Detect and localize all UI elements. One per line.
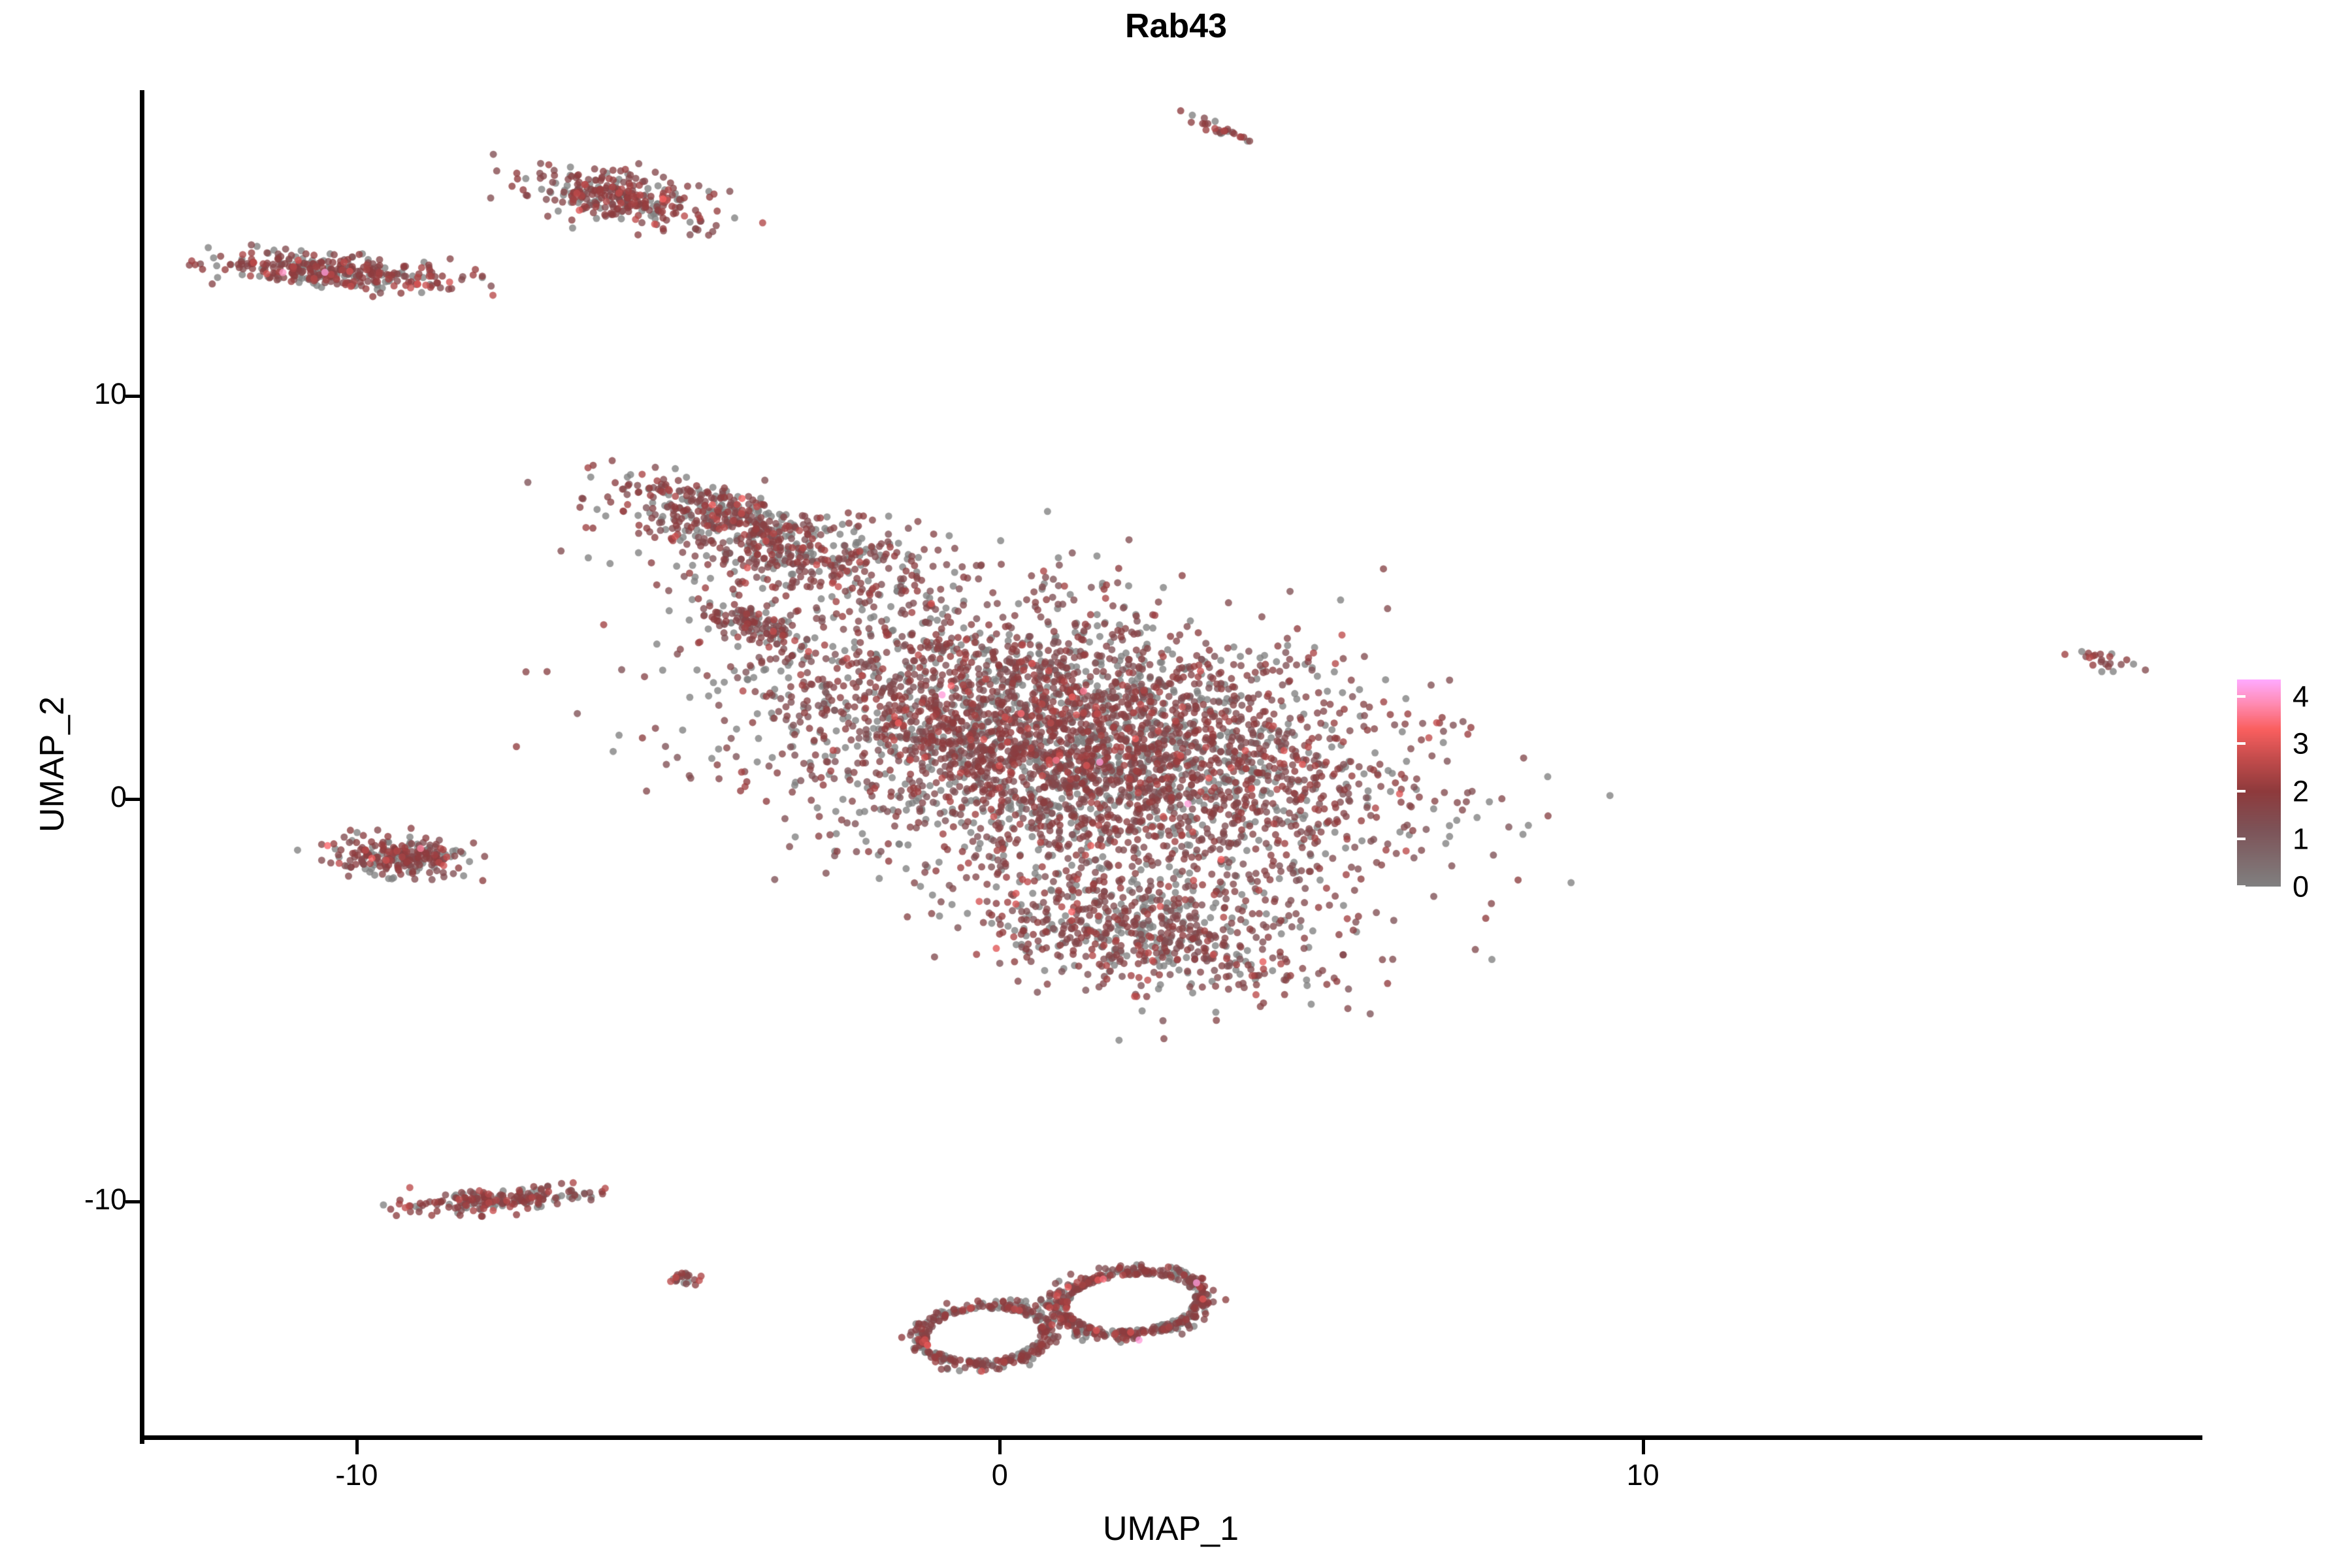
scatter-plot-canvas — [144, 90, 2202, 1439]
legend-tick-label: 0 — [2293, 872, 2309, 902]
legend-tick-mark — [2237, 742, 2246, 745]
y-tick-mark — [125, 395, 140, 398]
y-tick-mark — [125, 1200, 140, 1203]
legend-tick-label: 4 — [2293, 681, 2309, 711]
legend-tick-mark — [2333, 742, 2342, 745]
legend-tick-mark — [2237, 838, 2246, 840]
x-tick-mark — [1642, 1440, 1645, 1454]
y-tick-mark — [125, 798, 140, 801]
x-tick-label: -10 — [335, 1460, 378, 1490]
legend-tick-mark — [2333, 695, 2342, 698]
color-legend[interactable]: 01234 — [2237, 679, 2342, 902]
y-axis-title: UMAP_2 — [33, 372, 72, 1156]
x-axis-title-text: UMAP_1 — [1103, 1509, 1239, 1548]
y-tick-label: 0 — [110, 782, 127, 811]
legend-tick-label: 2 — [2293, 777, 2309, 806]
x-tick-label: 0 — [992, 1460, 1008, 1490]
legend-gradient-swatch — [2237, 679, 2281, 887]
y-axis-line — [140, 90, 144, 1444]
legend-tick-label: 3 — [2293, 729, 2309, 759]
legend-tick-label: 1 — [2293, 825, 2309, 854]
legend-tick-mark — [2237, 790, 2246, 792]
x-axis-line — [140, 1435, 2202, 1440]
page-title: Rab43 — [0, 7, 2352, 46]
umap-feature-plot: Rab43 -10010 -10010 UMAP_1 UMAP_2 01234 — [0, 0, 2352, 1568]
legend-tick-mark — [2333, 885, 2342, 888]
y-tick-label: -10 — [84, 1184, 127, 1214]
y-tick-label: 10 — [94, 379, 127, 408]
x-axis-title: UMAP_1 — [0, 1509, 2352, 1548]
legend-tick-mark — [2237, 695, 2246, 698]
x-tick-label: 10 — [1627, 1460, 1659, 1490]
legend-colorbar[interactable] — [2237, 679, 2281, 887]
x-tick-mark — [355, 1440, 359, 1454]
legend-tick-mark — [2333, 838, 2342, 840]
x-tick-mark — [998, 1440, 1002, 1454]
legend-tick-mark — [2333, 790, 2342, 792]
legend-tick-mark — [2237, 885, 2246, 888]
